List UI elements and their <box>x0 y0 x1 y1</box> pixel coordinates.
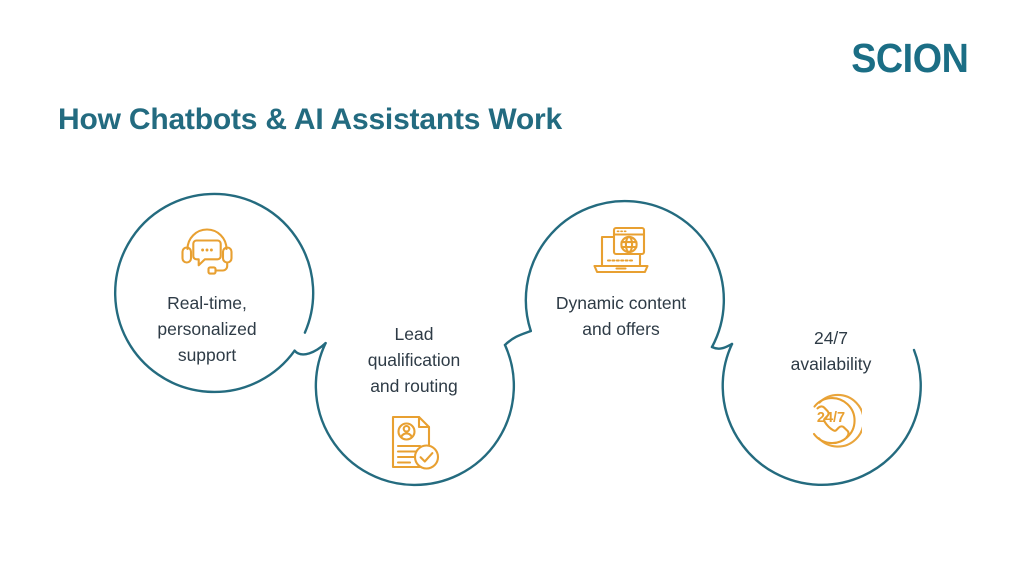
phone-icon-24-7-text: 24/7 <box>817 410 845 426</box>
diagram-node-3-label: Dynamic content and offers <box>521 291 721 343</box>
diagram-node-1-label: Real-time, personalized support <box>107 291 307 369</box>
phone-24-7-icon: 24/7 <box>800 391 862 449</box>
headset-chat-icon <box>177 222 237 278</box>
diagram-node-2[interactable]: Lead qualification and routing <box>314 322 514 471</box>
document-profile-check-icon <box>386 413 442 471</box>
diagram-node-1[interactable]: Real-time, personalized support <box>107 222 307 369</box>
diagram-node-3[interactable]: Dynamic content and offers <box>521 224 721 343</box>
diagram-node-4-label: 24/7 availability <box>731 326 931 378</box>
slide-canvas: SCION How Chatbots & AI Assistants Work <box>0 0 1024 569</box>
diagram-node-2-label: Lead qualification and routing <box>314 322 514 400</box>
process-diagram: Real-time, personalized support Lead qua… <box>0 0 1024 569</box>
laptop-globe-browser-icon <box>590 224 652 278</box>
diagram-node-4[interactable]: 24/7 availability 24/7 <box>731 326 931 449</box>
